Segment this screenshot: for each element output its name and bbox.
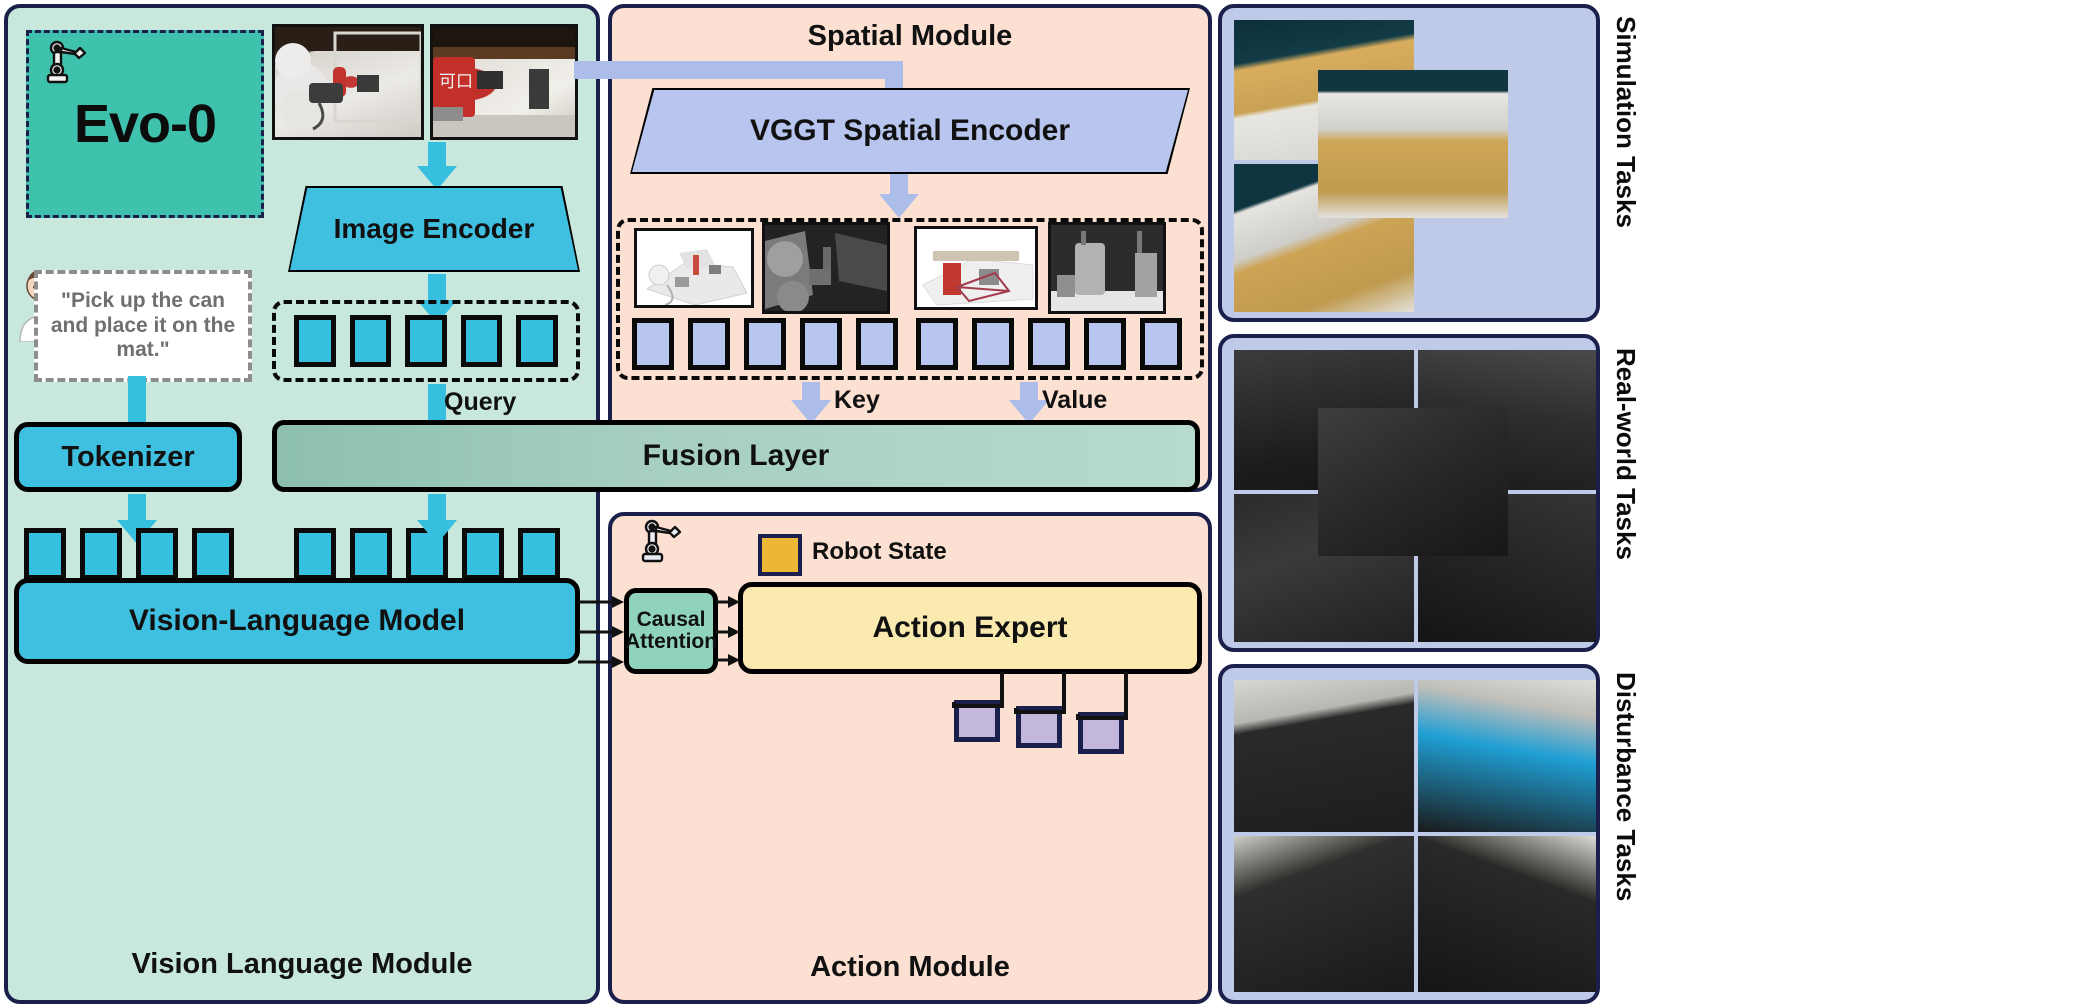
spatial-module-title: Spatial Module — [612, 20, 1208, 53]
value-label: Value — [1042, 386, 1107, 415]
text-token — [80, 528, 122, 580]
key-token — [632, 318, 674, 370]
action-expert-block: Action Expert — [738, 582, 1202, 674]
fused-vision-token — [350, 528, 392, 580]
fusion-layer-label: Fusion Layer — [643, 439, 830, 473]
key-token — [744, 318, 786, 370]
image-token — [516, 315, 558, 367]
text-token — [192, 528, 234, 580]
key-token-row — [632, 318, 898, 370]
svg-text:可口: 可口 — [439, 72, 473, 91]
image-token — [405, 315, 447, 367]
value-token-row — [916, 318, 1182, 370]
value-token — [916, 318, 958, 370]
tokenizer-block: Tokenizer — [14, 422, 242, 492]
vision-language-model-label: Vision-Language Model — [129, 604, 465, 638]
disturbance-tasks-label: Disturbance Tasks — [1610, 672, 1641, 992]
camera-view-wrist-art — [275, 27, 424, 140]
vision-language-module-title: Vision Language Module — [8, 948, 596, 981]
simulation-tasks-label: Simulation Tasks — [1610, 16, 1641, 312]
key-label: Key — [834, 386, 880, 415]
image-token — [350, 315, 392, 367]
image-token-group — [272, 300, 580, 382]
action-module-title: Action Module — [612, 951, 1208, 984]
point-cloud-view-2 — [914, 226, 1038, 310]
evo-0-label: Evo-0 — [74, 93, 216, 155]
value-token — [1028, 318, 1070, 370]
robot-state-swatch — [758, 534, 802, 576]
depth-map-view-2-art — [1051, 225, 1166, 314]
image-encoder: Image Encoder — [290, 188, 578, 270]
fusion-layer-block: Fusion Layer — [272, 420, 1200, 492]
fused-vision-token — [518, 528, 560, 580]
simulation-task-tile-center — [1318, 70, 1508, 218]
text-token — [136, 528, 178, 580]
depth-map-view-2 — [1048, 222, 1166, 314]
action-output-connectors — [950, 672, 1140, 730]
vision-language-model-block: Vision-Language Model — [14, 578, 580, 664]
diagram-root: Evo-0 "Pick up the ca — [0, 0, 2084, 1008]
depth-map-view-1-art — [765, 225, 890, 314]
query-label: Query — [444, 388, 516, 417]
vggt-spatial-encoder-label: VGGT Spatial Encoder — [750, 114, 1070, 148]
camera-view-scene: 可口 — [430, 24, 578, 140]
vision-language-module-panel: Evo-0 "Pick up the ca — [4, 4, 600, 1004]
value-token — [972, 318, 1014, 370]
fused-vision-token — [462, 528, 504, 580]
robot-state-label: Robot State — [812, 538, 947, 566]
depth-map-view-1 — [762, 222, 890, 314]
image-encoder-label: Image Encoder — [334, 213, 535, 245]
disturbance-task-tile — [1418, 680, 1596, 832]
fused-vision-token — [294, 528, 336, 580]
arrows-vlm-to-causal — [578, 588, 630, 676]
real-world-tasks-panel — [1218, 334, 1600, 652]
tokenizer-label: Tokenizer — [61, 441, 194, 474]
key-token — [856, 318, 898, 370]
instruction-bubble: "Pick up the can and place it on the mat… — [34, 270, 252, 382]
point-cloud-view-2-art — [917, 229, 1038, 310]
simulation-tasks-panel — [1218, 4, 1600, 322]
vggt-spatial-encoder: VGGT Spatial Encoder — [632, 90, 1188, 172]
disturbance-task-tile — [1418, 836, 1596, 992]
disturbance-tasks-panel — [1218, 664, 1600, 1004]
text-token — [24, 528, 66, 580]
action-robot-arm-icon — [630, 518, 692, 572]
causal-attention-label: Causal Attention — [625, 609, 717, 653]
evo-0-brand-box: Evo-0 — [26, 30, 264, 218]
instruction-text: "Pick up the can and place it on the mat… — [44, 289, 242, 363]
causal-attention-block: Causal Attention — [624, 588, 718, 674]
camera-view-wrist — [272, 24, 424, 140]
point-cloud-view-1 — [634, 228, 754, 308]
real-world-task-tile-center — [1318, 408, 1508, 556]
text-token-row — [24, 528, 234, 580]
arrows-causal-to-expert — [716, 590, 742, 674]
image-token — [461, 315, 503, 367]
value-token — [1084, 318, 1126, 370]
action-expert-label: Action Expert — [872, 611, 1067, 645]
point-cloud-view-1-art — [637, 231, 754, 308]
camera-view-scene-art: 可口 — [433, 27, 578, 140]
real-world-tasks-label: Real-world Tasks — [1610, 348, 1641, 644]
image-token — [294, 315, 336, 367]
key-token — [800, 318, 842, 370]
value-token — [1140, 318, 1182, 370]
robot-arm-icon — [35, 39, 97, 93]
disturbance-task-tile — [1234, 836, 1414, 992]
disturbance-task-tile — [1234, 680, 1414, 832]
key-token — [688, 318, 730, 370]
